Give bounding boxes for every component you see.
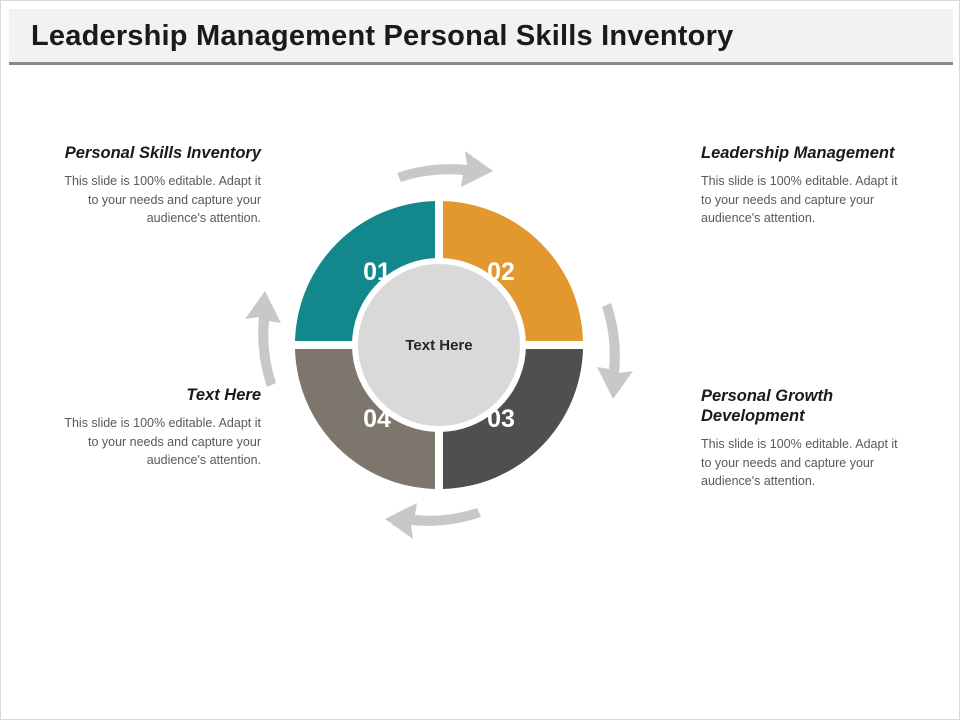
- segment-02-heading: Leadership Management: [701, 143, 901, 163]
- cycle-diagram: 01 02 03 04 Text Here Perso: [1, 81, 960, 681]
- segment-03-body: This slide is 100% editable. Adapt it to…: [701, 435, 901, 491]
- segment-04-body: This slide is 100% editable. Adapt it to…: [61, 414, 261, 470]
- arrow-bottom-icon: [385, 503, 481, 539]
- wheel-svg: 01 02 03 04: [289, 195, 589, 495]
- segment-02-textblock: Leadership Management This slide is 100%…: [701, 143, 901, 228]
- arrow-left-icon: [245, 291, 281, 387]
- segment-04-textblock: Text Here This slide is 100% editable. A…: [61, 386, 261, 470]
- page-title: Leadership Management Personal Skills In…: [31, 20, 733, 53]
- hub-circle[interactable]: [355, 261, 523, 429]
- segment-02-body: This slide is 100% editable. Adapt it to…: [701, 172, 901, 228]
- segment-01-heading: Personal Skills Inventory: [61, 143, 261, 163]
- segment-01-number: 01: [363, 258, 391, 286]
- arrow-top-icon: [397, 151, 493, 187]
- segment-04-number: 04: [363, 405, 391, 433]
- segment-03-number: 03: [487, 405, 515, 433]
- title-bar: Leadership Management Personal Skills In…: [9, 9, 953, 65]
- segment-02-number: 02: [487, 258, 515, 286]
- slide-canvas: Leadership Management Personal Skills In…: [0, 0, 960, 720]
- segment-04-heading: Text Here: [61, 386, 261, 405]
- segment-03-heading: Personal Growth Development: [701, 386, 901, 426]
- arrow-right-icon: [597, 303, 633, 399]
- segment-01-textblock: Personal Skills Inventory This slide is …: [61, 143, 261, 228]
- segment-01-body: This slide is 100% editable. Adapt it to…: [61, 172, 261, 228]
- segment-03-textblock: Personal Growth Development This slide i…: [701, 386, 901, 491]
